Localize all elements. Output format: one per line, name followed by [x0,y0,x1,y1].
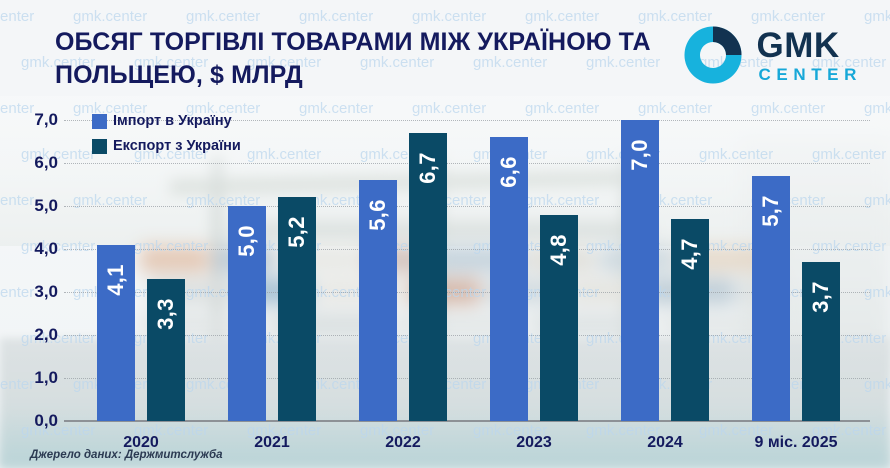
bar-import-9-міс-2025[interactable]: 5,7 [752,176,790,421]
y-axis-tick-label: 6,0 [0,153,58,173]
y-axis-tick-label: 0,0 [0,411,58,431]
bar-value-label: 6,7 [415,152,441,183]
bar-export-2022[interactable]: 6,7 [409,133,447,421]
gridline [64,206,870,207]
x-axis-tick-label: 2022 [385,434,421,452]
legend-swatch-icon [92,139,107,154]
bar-value-label: 4,1 [103,264,129,295]
source-note: Джерело даних: Держмитслужба [30,449,223,461]
gridline [64,249,870,250]
bar-import-2020[interactable]: 4,1 [97,245,135,421]
legend-swatch-icon [92,114,107,129]
x-axis-tick-label: 2021 [254,434,290,452]
bar-value-label: 4,7 [677,238,703,269]
y-axis-tick-label: 5,0 [0,196,58,216]
bar-value-label: 4,8 [546,234,572,265]
x-axis-tick-label: 9 міс. 2025 [754,434,837,452]
bar-value-label: 3,7 [808,281,834,312]
legend-label: Експорт з України [113,138,241,154]
bar-export-2023[interactable]: 4,8 [540,215,578,421]
bar-value-label: 5,2 [284,217,310,248]
bar-value-label: 5,0 [234,225,260,256]
y-axis-tick-label: 3,0 [0,282,58,302]
bar-export-9-міс-2025[interactable]: 3,7 [802,262,840,421]
bar-export-2024[interactable]: 4,7 [671,219,709,421]
y-axis-tick-label: 4,0 [0,239,58,259]
legend-label: Імпорт в Україну [113,113,232,129]
infographic-canvas: gmk.centergmk.centergmk.centergmk.center… [0,0,890,468]
gmk-logo: GMK CENTER [682,24,863,86]
y-axis-tick-label: 2,0 [0,325,58,345]
gridline [64,163,870,164]
bar-export-2020[interactable]: 3,3 [147,279,185,421]
y-axis-tick-label: 7,0 [0,110,58,130]
bar-value-label: 5,7 [758,195,784,226]
bar-import-2021[interactable]: 5,0 [228,206,266,421]
logo-subtitle: CENTER [759,66,863,83]
logo-wordmark: GMK CENTER [757,28,863,83]
x-axis-tick-label: 2024 [647,434,683,452]
bar-value-label: 5,6 [365,199,391,230]
chart-legend: Імпорт в УкраїнуЕкспорт з України [92,113,241,163]
bar-import-2022[interactable]: 5,6 [359,180,397,421]
bar-import-2023[interactable]: 6,6 [490,137,528,421]
header: ОБСЯГ ТОРГІВЛІ ТОВАРАМИ МІЖ УКРАЇНОЮ ТА … [0,0,890,100]
x-axis-tick-label: 2023 [516,434,552,452]
bar-export-2021[interactable]: 5,2 [278,197,316,421]
page-title: ОБСЯГ ТОРГІВЛІ ТОВАРАМИ МІЖ УКРАЇНОЮ ТА … [55,26,655,92]
bar-value-label: 7,0 [627,139,653,170]
bar-value-label: 6,6 [496,156,522,187]
y-axis-tick-label: 1,0 [0,368,58,388]
logo-name: GMK [757,28,863,63]
legend-item-import[interactable]: Імпорт в Україну [92,113,241,129]
legend-item-export[interactable]: Експорт з України [92,138,241,154]
donut-logo-icon [682,24,744,86]
bar-value-label: 3,3 [153,298,179,329]
bar-import-2024[interactable]: 7,0 [621,120,659,421]
